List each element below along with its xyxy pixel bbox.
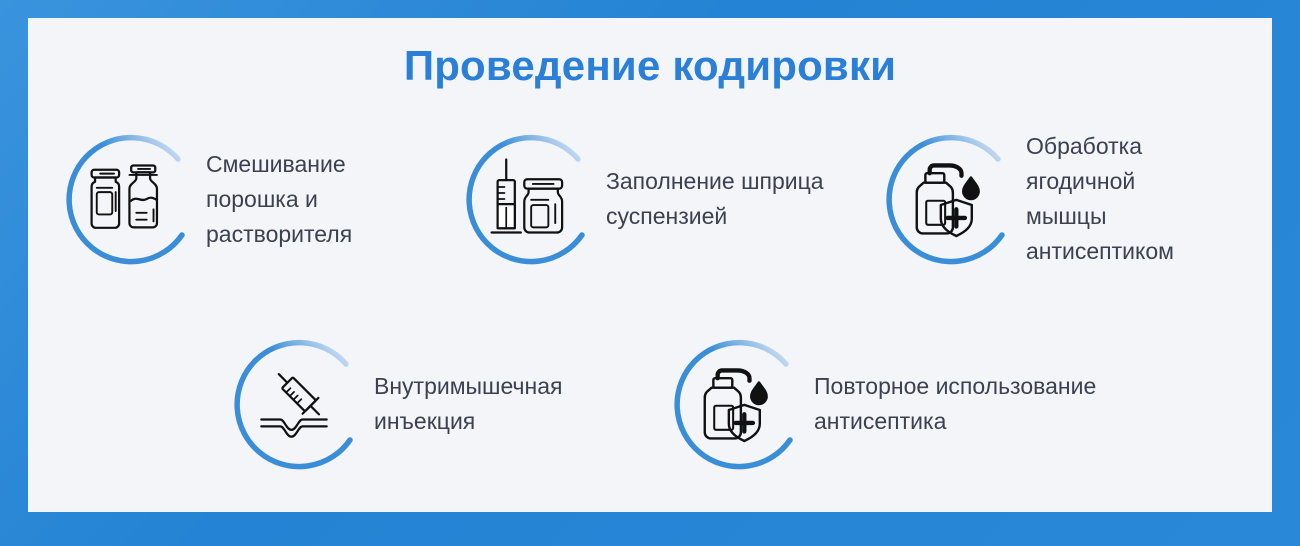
step-badge-4 — [218, 328, 370, 480]
step-item-3: Обработка ягодичной мышцы антисептиком — [870, 123, 1250, 275]
antiseptic-dispenser-shield-icon — [903, 156, 989, 242]
step-caption-5: Повторное использование антисептика — [814, 369, 1096, 439]
steps-row-bottom: Внутримышечная инъекция — [218, 328, 1258, 480]
infographic-poster: Проведение кодировки — [0, 0, 1300, 546]
step-badge-3 — [870, 123, 1022, 275]
intramuscular-injection-icon — [251, 361, 337, 447]
step-item-1: Смешивание порошка и растворителя — [50, 123, 450, 275]
step-caption-4: Внутримышечная инъекция — [374, 369, 562, 439]
step-caption-1: Смешивание порошка и растворителя — [206, 147, 352, 252]
step-badge-5 — [658, 328, 810, 480]
page-title: Проведение кодировки — [28, 42, 1272, 90]
antiseptic-dispenser-shield-icon — [691, 361, 777, 447]
step-item-5: Повторное использование антисептика — [658, 328, 1128, 480]
step-badge-1 — [50, 123, 202, 275]
step-caption-3: Обработка ягодичной мышцы антисептиком — [1026, 129, 1250, 269]
step-caption-2: Заполнение шприца суспензией — [606, 164, 824, 234]
step-item-4: Внутримышечная инъекция — [218, 328, 658, 480]
step-item-2: Заполнение шприца суспензией — [450, 123, 870, 275]
powder-and-solvent-vials-icon — [83, 156, 169, 242]
syringe-and-vial-icon — [483, 156, 569, 242]
steps-row-top: Смешивание порошка и растворителя — [50, 123, 1250, 275]
step-badge-2 — [450, 123, 602, 275]
poster-canvas: Проведение кодировки — [28, 18, 1272, 512]
